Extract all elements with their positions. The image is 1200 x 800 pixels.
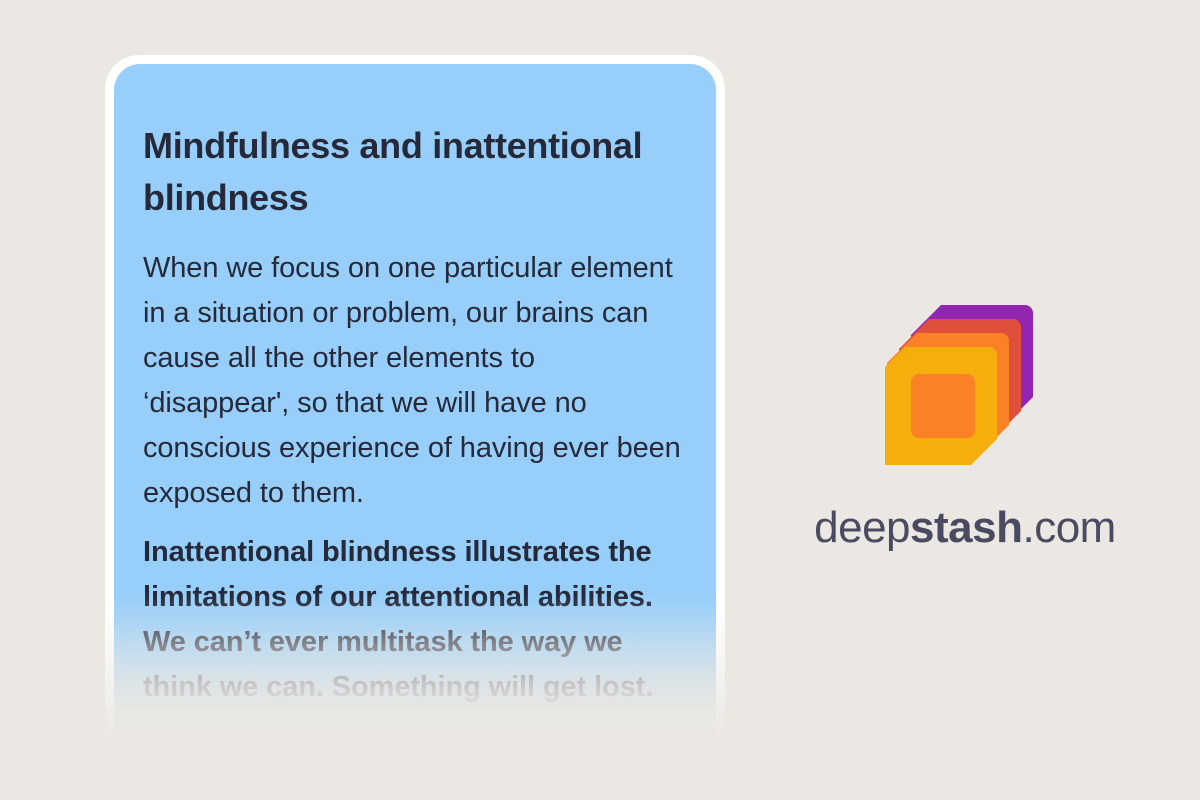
wordmark-deep: deep [814, 503, 910, 552]
brand-wordmark: deepstash.com [800, 503, 1130, 553]
card-white-frame: Mindfulness and inattentional blindness … [105, 55, 725, 745]
deepstash-logo-icon [885, 300, 1045, 465]
card-content: Mindfulness and inattentional blindness … [114, 64, 716, 710]
card-paragraph-intro: When we focus on one particular element … [143, 246, 684, 516]
card-title: Mindfulness and inattentional blindness [143, 120, 684, 224]
card-surface: Mindfulness and inattentional blindness … [114, 64, 716, 745]
brand-block: deepstash.com [800, 300, 1130, 553]
wordmark-stash: stash [910, 503, 1022, 552]
stash-card[interactable]: Mindfulness and inattentional blindness … [105, 55, 725, 745]
wordmark-tld: .com [1022, 503, 1115, 552]
card-paragraph-highlight: Inattentional blindness illustrates the … [143, 530, 684, 710]
